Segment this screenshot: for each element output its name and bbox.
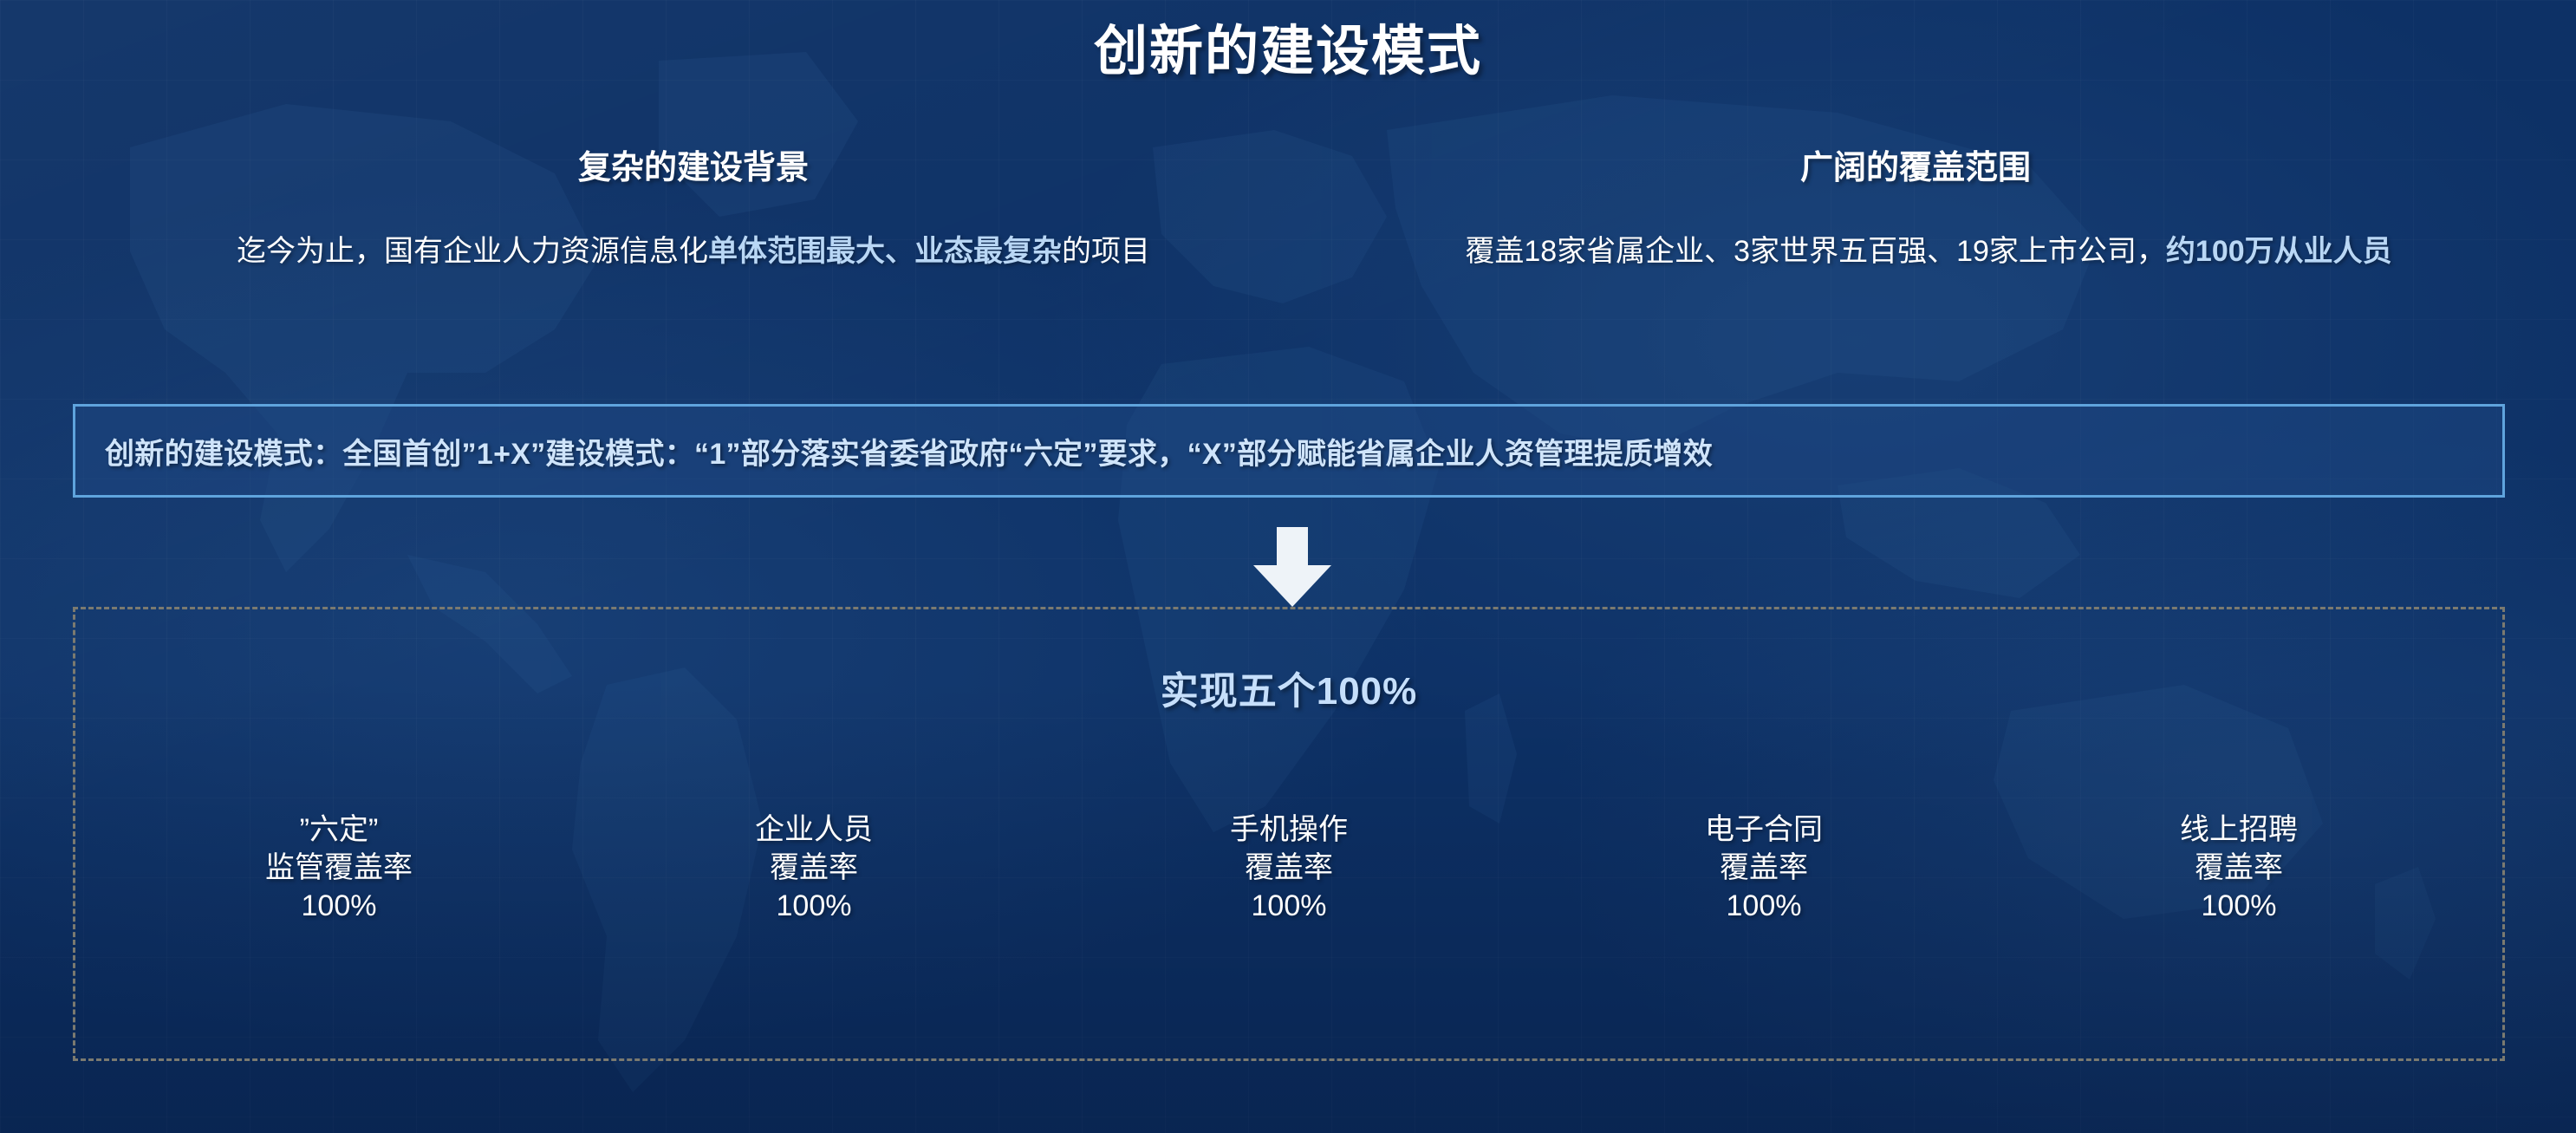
metric-3-line-1: 手机操作	[1051, 811, 1526, 849]
construction-model-banner: 创新的建设模式：全国首创”1+X”建设模式：“1”部分落实省委省政府“六定”要求…	[73, 404, 2505, 498]
left-body-part-3: 的项目	[1062, 235, 1150, 268]
metric-2-value: 100%	[576, 887, 1051, 925]
left-body-part-1: 迄今为止，国有企业人力资源信息化	[237, 235, 708, 268]
metric-item-3: 手机操作 覆盖率 100%	[1051, 811, 1526, 926]
metric-item-4: 电子合同 覆盖率 100%	[1526, 811, 2001, 926]
right-body-part-1: 覆盖18家省属企业、3家世界五百强、19家上市公司，	[1465, 235, 2166, 268]
left-column-body: 迄今为止，国有企业人力资源信息化单体范围最大、业态最复杂的项目	[78, 232, 1309, 271]
banner-text: 创新的建设模式：全国首创”1+X”建设模式：“1”部分落实省委省政府“六定”要求…	[105, 430, 1713, 472]
metric-1-line-1: ”六定”	[101, 811, 576, 849]
metric-2-line-2: 覆盖率	[576, 849, 1051, 887]
metric-4-line-1: 电子合同	[1526, 811, 2001, 849]
slide-canvas: 创新的建设模式 复杂的建设背景 迄今为止，国有企业人力资源信息化单体范围最大、业…	[0, 0, 2576, 1133]
metric-5-value: 100%	[2001, 887, 2476, 925]
metric-3-line-2: 覆盖率	[1051, 849, 1526, 887]
metric-4-line-2: 覆盖率	[1526, 849, 2001, 887]
left-body-part-2-emphasis: 单体范围最大、业态最复杂	[708, 235, 1062, 268]
metric-item-2: 企业人员 覆盖率 100%	[576, 811, 1051, 926]
metrics-row: ”六定” 监管覆盖率 100% 企业人员 覆盖率 100% 手机操作 覆盖率 1…	[101, 811, 2476, 926]
right-body-part-2-emphasis: 约100万从业人员	[2166, 235, 2392, 268]
metric-4-value: 100%	[1526, 887, 2001, 925]
right-column-body: 覆盖18家省属企业、3家世界五百强、19家上市公司，约100万从业人员	[1335, 232, 2522, 271]
metric-3-value: 100%	[1051, 887, 1526, 925]
metric-item-1: ”六定” 监管覆盖率 100%	[101, 811, 576, 926]
achievements-panel: 实现五个100% ”六定” 监管覆盖率 100% 企业人员 覆盖率 100% 手…	[73, 607, 2505, 1061]
metric-5-line-1: 线上招聘	[2001, 811, 2476, 849]
left-column-heading: 复杂的建设背景	[260, 140, 1127, 188]
metric-2-line-1: 企业人员	[576, 811, 1051, 849]
page-title: 创新的建设模式	[0, 7, 2576, 85]
metric-item-5: 线上招聘 覆盖率 100%	[2001, 811, 2476, 926]
arrow-down-icon	[1253, 527, 1331, 607]
metric-5-line-2: 覆盖率	[2001, 849, 2476, 887]
metric-1-line-2: 监管覆盖率	[101, 849, 576, 887]
right-column-heading: 广阔的覆盖范围	[1465, 140, 2366, 188]
metric-1-value: 100%	[101, 887, 576, 925]
panel-title: 实现五个100%	[75, 660, 2502, 715]
